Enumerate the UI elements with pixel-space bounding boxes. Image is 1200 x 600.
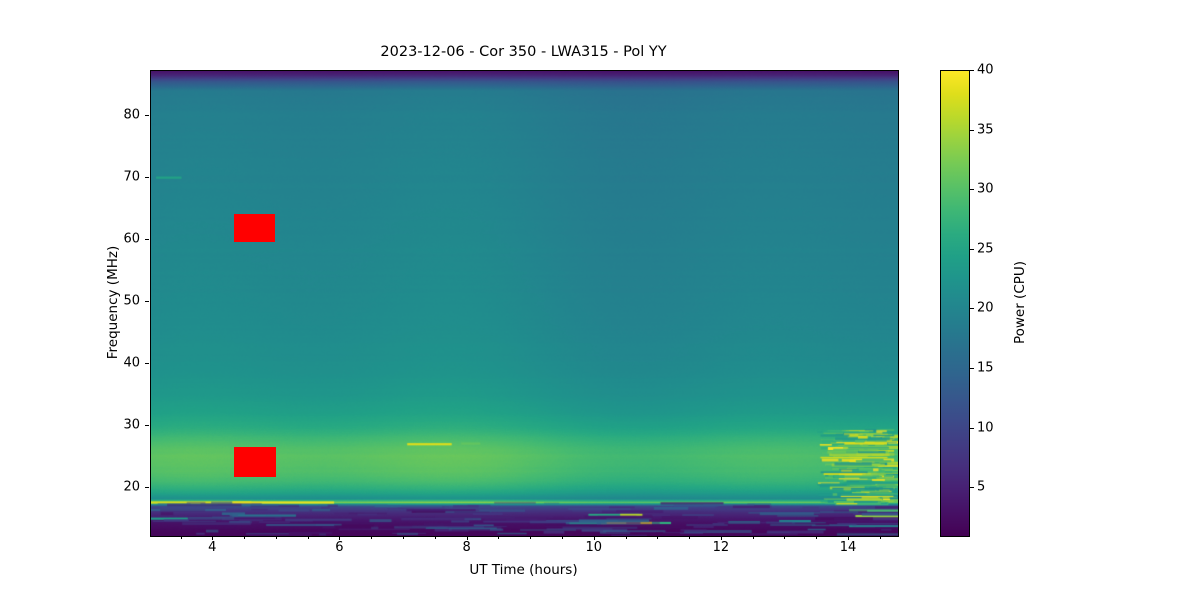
- y-tick-mark: [145, 363, 149, 364]
- x-minor-tick-mark: [276, 536, 277, 539]
- colorbar-tick-mark: [970, 368, 974, 369]
- x-tick-label: 8: [462, 540, 470, 555]
- colorbar-tick-label: 5: [977, 480, 985, 495]
- x-minor-tick-mark: [816, 536, 817, 539]
- colorbar-tick-mark: [970, 189, 974, 190]
- colorbar-tick-mark: [970, 487, 974, 488]
- x-minor-tick-mark: [880, 536, 881, 539]
- colorbar-tick-mark: [970, 130, 974, 131]
- x-minor-tick-mark: [562, 536, 563, 539]
- x-tick-label: 14: [840, 540, 857, 555]
- y-tick-mark: [145, 115, 149, 116]
- figure-canvas: 2023-12-06 - Cor 350 - LWA315 - Pol YY 4…: [0, 0, 1200, 600]
- y-tick-mark: [145, 487, 149, 488]
- x-minor-tick-mark: [371, 536, 372, 539]
- y-tick-mark: [145, 239, 149, 240]
- colorbar-tick-mark: [970, 249, 974, 250]
- x-minor-tick-mark: [657, 536, 658, 539]
- colorbar-tick-mark: [970, 308, 974, 309]
- colorbar-tick-label: 35: [977, 122, 994, 137]
- x-tick-label: 4: [208, 540, 216, 555]
- colorbar-tick-mark: [970, 70, 974, 71]
- x-axis-label: UT Time (hours): [150, 562, 897, 578]
- colorbar-tick-label: 25: [977, 241, 994, 256]
- y-tick-mark: [145, 301, 149, 302]
- rfi-flag-box-1: [234, 214, 275, 242]
- colorbar-tick-label: 30: [977, 182, 994, 197]
- x-minor-tick-mark: [626, 536, 627, 539]
- colorbar[interactable]: [940, 70, 970, 537]
- colorbar-tick-label: 10: [977, 420, 994, 435]
- rfi-flag-box-2: [234, 447, 276, 477]
- x-minor-tick-mark: [784, 536, 785, 539]
- x-minor-tick-mark: [753, 536, 754, 539]
- colorbar-label: Power (CPU): [1012, 70, 1028, 535]
- x-minor-tick-mark: [689, 536, 690, 539]
- y-tick-mark: [145, 177, 149, 178]
- x-minor-tick-mark: [244, 536, 245, 539]
- colorbar-gradient: [941, 71, 969, 536]
- x-minor-tick-mark: [435, 536, 436, 539]
- plot-title: 2023-12-06 - Cor 350 - LWA315 - Pol YY: [150, 44, 897, 60]
- y-tick-mark: [145, 425, 149, 426]
- x-tick-label: 10: [585, 540, 602, 555]
- x-minor-tick-mark: [308, 536, 309, 539]
- x-minor-tick-mark: [403, 536, 404, 539]
- x-minor-tick-mark: [498, 536, 499, 539]
- spectrogram-axes[interactable]: [150, 70, 899, 537]
- colorbar-tick-mark: [970, 428, 974, 429]
- colorbar-tick-label: 15: [977, 361, 994, 376]
- x-tick-label: 6: [335, 540, 343, 555]
- x-minor-tick-mark: [181, 536, 182, 539]
- x-tick-label: 12: [713, 540, 730, 555]
- y-axis-label: Frequency (MHz): [105, 70, 121, 535]
- colorbar-tick-label: 20: [977, 301, 994, 316]
- x-minor-tick-mark: [530, 536, 531, 539]
- colorbar-tick-label: 40: [977, 63, 994, 78]
